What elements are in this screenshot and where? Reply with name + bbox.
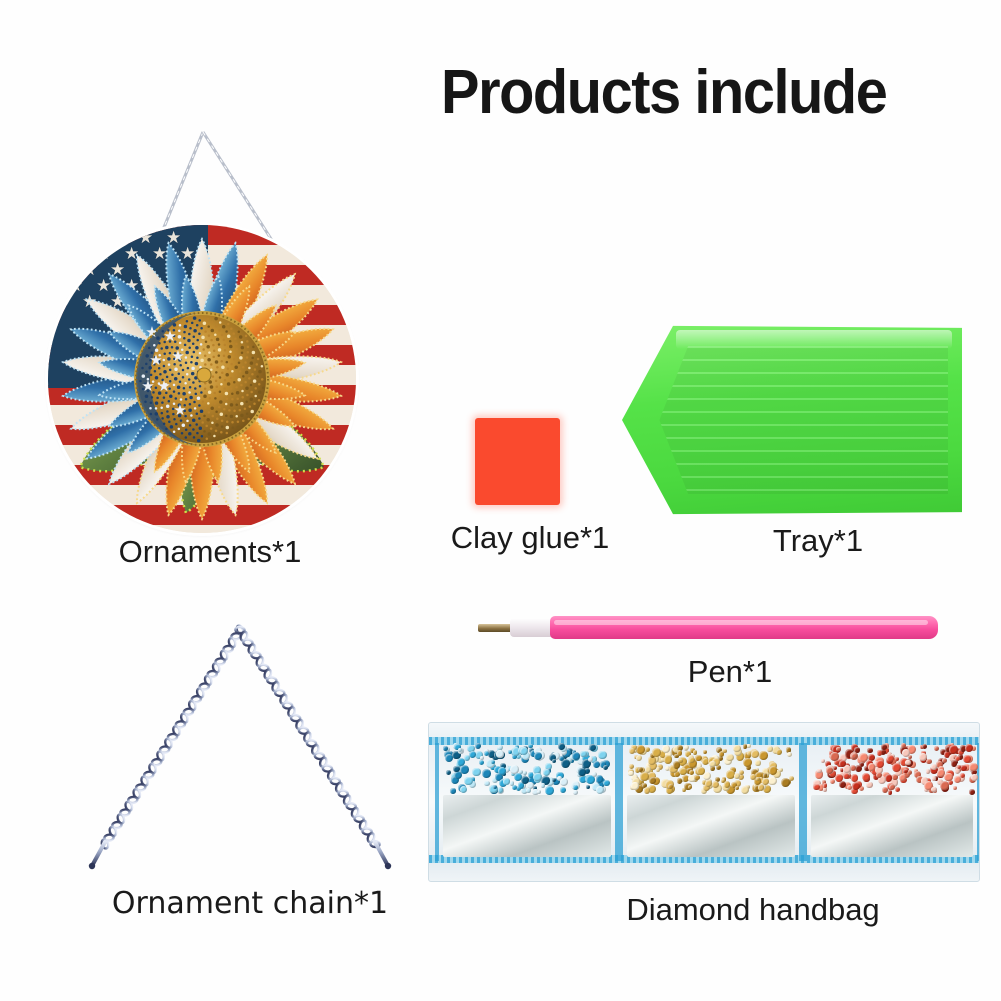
core-bead (187, 339, 191, 343)
core-bead (254, 387, 257, 390)
core-bead (177, 386, 181, 390)
ornament-chain-label: Ornament chain*1 (40, 889, 460, 919)
core-bead (190, 361, 193, 364)
core-bead (186, 420, 189, 423)
rhinestone (629, 764, 634, 769)
tray-grooves (659, 346, 948, 495)
core-bead (215, 325, 218, 328)
gem-compartment-gold (619, 743, 803, 861)
core-bead (246, 413, 249, 416)
core-bead (215, 411, 218, 414)
core-star-icon: ★ (173, 402, 186, 419)
rhinestone (892, 763, 901, 772)
rhinestone (716, 765, 721, 770)
core-bead (226, 361, 229, 364)
core-bead (156, 418, 159, 421)
rhinestone (498, 787, 504, 793)
core-bead (230, 387, 233, 390)
foil-label-gold (627, 795, 795, 857)
gold-gems (627, 743, 795, 795)
diamond-handbag-product (428, 722, 980, 882)
rhinestone (907, 770, 912, 775)
core-bead (242, 375, 245, 378)
rhinestone (673, 761, 680, 768)
core-bead (182, 424, 186, 428)
core-bead (155, 407, 158, 410)
core-bead (159, 373, 162, 376)
core-bead (149, 407, 152, 410)
rhinestone (586, 785, 590, 789)
ornament-chain-icon (75, 620, 405, 880)
core-bead (188, 378, 191, 381)
core-bead (246, 394, 249, 397)
rhinestone (868, 763, 875, 770)
rhinestone (735, 786, 739, 790)
core-bead (196, 432, 199, 435)
core-bead (212, 356, 215, 359)
core-bead (241, 396, 244, 399)
core-bead (241, 341, 244, 344)
core-bead (201, 421, 204, 424)
core-bead (237, 421, 240, 424)
core-bead (233, 358, 236, 361)
rhinestone (496, 750, 503, 757)
rhinestone (876, 760, 884, 768)
rhinestone (445, 754, 453, 762)
rhinestone (899, 774, 906, 781)
core-bead (213, 402, 216, 405)
core-bead (163, 359, 166, 362)
core-bead (212, 415, 215, 418)
core-bead (207, 358, 211, 362)
rhinestone (596, 786, 604, 794)
core-bead (166, 405, 170, 409)
core-bead (213, 349, 216, 352)
core-bead (170, 425, 174, 429)
core-bead (205, 341, 208, 344)
core-bead (248, 367, 251, 370)
rhinestone (541, 783, 545, 787)
core-bead (252, 351, 256, 355)
core-bead (185, 351, 189, 355)
core-bead (189, 327, 192, 330)
rhinestone (514, 773, 522, 781)
core-bead (218, 329, 221, 332)
core-bead (244, 361, 247, 364)
red-gems (811, 743, 973, 795)
pen-label: Pen*1 (580, 656, 880, 687)
core-bead (156, 397, 159, 400)
core-bead (215, 380, 218, 383)
rhinestone (482, 769, 491, 778)
core-bead (182, 392, 186, 396)
core-star-icon: ★ (145, 324, 158, 341)
core-bead (183, 337, 186, 340)
core-bead (163, 422, 166, 425)
clay-glue-label: Clay glue*1 (380, 522, 680, 553)
core-bead (198, 417, 201, 420)
rhinestone (688, 785, 692, 789)
core-bead (254, 395, 257, 398)
core-bead (163, 352, 166, 355)
core-bead (203, 430, 206, 433)
rhinestone (475, 743, 481, 749)
core-bead (231, 398, 234, 401)
core-star-icon: ★ (141, 378, 154, 395)
core-bead (195, 423, 198, 426)
core-bead (232, 332, 235, 335)
core-bead (210, 427, 213, 430)
core-bead (150, 374, 153, 377)
rhinestone (823, 783, 828, 788)
core-bead (167, 357, 171, 361)
core-bead (144, 401, 147, 404)
core-bead (199, 352, 202, 355)
core-bead (208, 390, 212, 394)
rhinestone (693, 750, 698, 755)
core-bead (218, 406, 221, 409)
rhinestone (573, 785, 578, 790)
rhinestone (598, 751, 607, 760)
core-bead (203, 395, 207, 399)
rhinestone (867, 748, 872, 753)
core-bead (224, 344, 227, 347)
core-bead (206, 418, 210, 422)
core-bead (219, 321, 222, 324)
core-bead (239, 356, 243, 360)
core-bead (224, 379, 227, 382)
rhinestone (741, 786, 749, 794)
ornament-label: Ornaments*1 (0, 536, 420, 567)
core-bead (223, 408, 226, 411)
core-bead (238, 362, 241, 365)
core-bead (195, 362, 199, 366)
core-bead (202, 348, 205, 351)
rhinestone (631, 782, 638, 789)
core-bead (244, 407, 247, 410)
core-bead (234, 337, 237, 340)
core-bead (218, 348, 222, 352)
core-bead (235, 403, 238, 406)
rhinestone (694, 775, 700, 781)
core-bead (181, 432, 184, 435)
core-bead (227, 367, 230, 370)
core-bead (145, 395, 149, 399)
core-bead (234, 366, 238, 370)
rhinestone (969, 789, 975, 795)
core-bead (192, 418, 196, 422)
core-bead (201, 435, 204, 438)
core-bead (160, 347, 163, 350)
rhinestone (677, 750, 683, 756)
core-bead (247, 418, 250, 421)
core-bead (193, 436, 196, 439)
rhinestone (560, 778, 567, 785)
rhinestone (787, 752, 792, 757)
core-bead (231, 392, 234, 395)
diamond-handbag-label: Diamond handbag (553, 894, 953, 925)
rhinestone (528, 744, 532, 748)
rhinestone (656, 767, 660, 771)
rhinestone (826, 767, 832, 773)
rhinestone (520, 747, 528, 755)
core-bead (246, 356, 249, 359)
rhinestone (743, 758, 752, 767)
rhinestone (901, 743, 906, 748)
rhinestone (885, 774, 893, 782)
core-bead (151, 396, 154, 399)
core-bead (161, 401, 164, 404)
foil-label-red (811, 795, 973, 857)
core-bead (215, 360, 219, 364)
core-bead (163, 396, 166, 399)
rhinestone (450, 788, 456, 794)
rhinestone (895, 787, 900, 792)
core-bead (180, 398, 183, 401)
core-bead (208, 380, 212, 384)
core-bead (183, 331, 186, 334)
core-bead (226, 432, 229, 435)
core-bead (258, 390, 262, 394)
rhinestone (926, 759, 931, 764)
core-bead (208, 411, 211, 414)
core-bead (174, 377, 178, 381)
core-bead (153, 344, 156, 347)
rhinestone (684, 745, 689, 750)
core-bead (258, 370, 262, 374)
core-bead (237, 425, 241, 429)
core-bead (232, 426, 235, 429)
core-bead (186, 373, 189, 376)
core-bead (211, 329, 215, 333)
core-bead (230, 403, 234, 407)
page-title: Products include (441, 62, 962, 124)
core-bead (208, 334, 211, 337)
core-bead (245, 387, 249, 391)
core-bead (235, 386, 238, 389)
rhinestone (537, 790, 541, 794)
core-bead (174, 367, 178, 371)
core-bead (205, 425, 208, 428)
core-bead (237, 378, 241, 382)
rhinestone (443, 746, 448, 751)
rhinestone (949, 745, 958, 754)
rhinestone (533, 773, 541, 781)
core-bead (185, 356, 188, 359)
core-bead (206, 318, 209, 321)
core-bead (184, 325, 188, 329)
rhinestone (759, 751, 768, 760)
rhinestone (862, 773, 870, 781)
tray-label: Tray*1 (668, 525, 968, 556)
rhinestone (758, 784, 764, 790)
core-bead (221, 334, 224, 337)
rhinestone (726, 754, 733, 761)
rhinestone (603, 780, 610, 787)
core-bead (230, 327, 233, 330)
rhinestone (934, 746, 939, 751)
core-bead (220, 431, 223, 434)
core-bead (171, 373, 174, 376)
rhinestone (969, 763, 977, 771)
core-bead (197, 439, 201, 443)
core-star-icon: ★ (163, 328, 176, 345)
core-bead (193, 316, 197, 320)
core-bead (210, 363, 213, 366)
core-bead (192, 342, 195, 345)
core-bead (148, 347, 151, 350)
core-bead (166, 415, 170, 419)
core-bead (249, 405, 252, 408)
rhinestone (697, 767, 705, 775)
core-bead (240, 402, 244, 406)
rhinestone (458, 748, 462, 752)
rhinestone (503, 778, 509, 784)
ornament-product: ★★★★★★★★★★★★★★★★★★★★★★★★★ (40, 130, 370, 530)
core-bead (154, 370, 157, 373)
core-bead (185, 436, 188, 439)
rhinestone (851, 753, 857, 759)
core-bead (173, 390, 176, 393)
core-bead (178, 330, 181, 333)
core-bead (150, 402, 153, 405)
core-bead (211, 421, 214, 424)
core-bead (218, 436, 222, 440)
core-bead (193, 351, 196, 354)
core-bead (194, 407, 197, 410)
core-bead (208, 432, 212, 436)
core-bead (258, 399, 261, 402)
core-star-icon: ★ (157, 378, 170, 395)
core-bead (185, 398, 188, 401)
core-bead (166, 410, 169, 413)
core-bead (191, 367, 195, 371)
core-bead (196, 413, 199, 416)
sunflower-artwork: ★★★★★★★ (52, 229, 352, 529)
core-bead (212, 375, 215, 378)
core-bead (175, 397, 178, 400)
core-bead (231, 421, 234, 424)
core-bead (200, 359, 204, 363)
core-bead (230, 415, 234, 419)
core-bead (186, 320, 189, 323)
rhinestone (603, 765, 608, 770)
core-bead (207, 325, 210, 328)
core-bead (225, 415, 228, 418)
core-bead (161, 412, 164, 415)
rhinestone (855, 765, 862, 772)
core-bead (250, 410, 254, 414)
core-bead (200, 343, 203, 346)
core-bead (250, 384, 253, 387)
rhinestone (768, 777, 776, 785)
core-bead (155, 401, 159, 405)
rhinestone (689, 770, 694, 775)
rhinestone (695, 755, 701, 761)
core-bead (178, 335, 182, 339)
core-bead (185, 429, 188, 432)
core-bead (202, 400, 205, 403)
core-bead (247, 351, 250, 354)
core-bead (191, 356, 194, 359)
core-bead (220, 396, 223, 399)
rhinestone (578, 768, 585, 775)
rhinestone (830, 752, 838, 760)
core-bead (226, 397, 229, 400)
core-bead (224, 349, 227, 352)
rhinestone (573, 790, 578, 795)
rhinestone (756, 777, 760, 781)
core-bead (179, 324, 182, 327)
pen-ferrule (510, 618, 554, 637)
core-bead (165, 346, 169, 350)
core-bead (261, 378, 264, 381)
rhinestone (454, 771, 462, 779)
core-bead (227, 323, 230, 326)
core-bead (188, 391, 191, 394)
rhinestone (636, 755, 642, 761)
core-bead (196, 339, 199, 342)
rhinestone (944, 773, 952, 781)
core-bead (245, 371, 249, 375)
core-bead (256, 375, 259, 378)
core-bead (208, 351, 211, 354)
gem-compartment-blue (435, 743, 619, 861)
rhinestone (560, 787, 566, 793)
rhinestone (876, 772, 882, 778)
core-bead (189, 396, 193, 400)
rhinestone (689, 757, 695, 763)
rhinestone (629, 748, 636, 755)
core-bead (160, 407, 163, 410)
rhinestone (722, 749, 726, 753)
rhinestone (769, 766, 777, 774)
core-bead (220, 360, 223, 363)
core-bead (253, 403, 256, 406)
core-bead (193, 401, 196, 404)
core-bead (169, 395, 173, 399)
rhinestone (836, 747, 840, 751)
tray-highlight (676, 330, 951, 350)
gem-compartment-red (803, 743, 980, 861)
core-bead (191, 322, 194, 325)
rhinestone (652, 748, 661, 757)
core-bead (239, 409, 242, 412)
core-bead (254, 368, 257, 371)
rhinestone (677, 778, 683, 784)
core-bead (195, 393, 198, 396)
rhinestone (645, 747, 650, 752)
core-bead (184, 344, 187, 347)
core-bead (161, 417, 164, 420)
core-bead (206, 345, 210, 349)
core-bead (222, 325, 226, 329)
core-bead (204, 363, 207, 366)
core-bead (175, 423, 178, 426)
rhinestone (955, 756, 960, 761)
core-bead (235, 415, 238, 418)
core-bead (245, 335, 248, 338)
core-bead (155, 412, 159, 416)
core-bead (221, 425, 224, 428)
core-bead (204, 330, 207, 333)
core-bead (227, 335, 231, 339)
core-bead (204, 406, 207, 409)
rhinestone (755, 760, 760, 765)
core-bead (190, 414, 193, 417)
core-bead (210, 339, 213, 342)
core-bead (248, 377, 251, 380)
